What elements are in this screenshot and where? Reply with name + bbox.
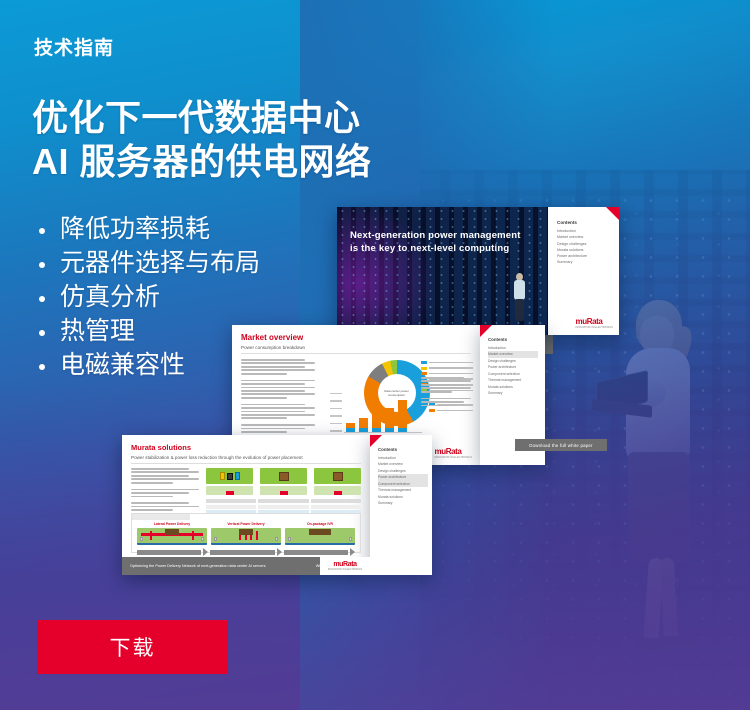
page-title-line-2: AI 服务器的供电网络: [32, 140, 372, 184]
feature-bullet-list: 降低功率损耗 元器件选择与布局 仿真分析 热管理 电磁兼容性: [34, 212, 260, 382]
murata-logo-text: muRata: [576, 317, 603, 326]
table-row: [206, 499, 361, 503]
murata-logo-text: muRata: [435, 447, 462, 456]
market-contents-panel: Contents Introduction Market overview De…: [480, 325, 545, 465]
cover-hero-image: [337, 207, 548, 335]
chip-top-view: [206, 468, 253, 484]
legend-item: [429, 409, 473, 412]
solutions-comparison-table: [206, 499, 361, 514]
document-thumb-cover[interactable]: Next-generation power management is the …: [337, 207, 619, 335]
contents-item: Summary: [488, 390, 538, 396]
solutions-contents-panel: Contents Introduction Market overview De…: [370, 435, 432, 575]
contents-heading: Contents: [557, 220, 613, 225]
market-contents-list: Contents Introduction Market overview De…: [488, 337, 538, 397]
murata-logo: muRata INNOVATOR IN ELECTRONICS: [320, 557, 370, 575]
chip-diagram-cell: [206, 468, 253, 495]
page-title: 优化下一代数据中心 AI 服务器的供电网络: [32, 96, 372, 184]
chip-side-view: [260, 486, 307, 495]
contents-heading: Contents: [488, 337, 538, 342]
stage-label: On-package IVR: [285, 522, 355, 526]
solutions-subtitle: Power stabilization & power loss reducti…: [131, 455, 361, 464]
murata-logo: muRata INNOVATOR IN ELECTRONICS: [435, 447, 472, 459]
murata-logo-text: muRata: [333, 561, 356, 568]
eyebrow-label: 技术指南: [34, 33, 114, 60]
chip-top-view: [314, 468, 361, 484]
legend-item: [421, 367, 473, 370]
contents-heading: Contents: [378, 447, 428, 452]
murata-logo-tagline: INNOVATOR IN ELECTRONICS: [328, 568, 363, 571]
red-corner-triangle-icon: [606, 207, 619, 220]
pcb-diagram: [211, 528, 281, 545]
murata-logo: muRata INNOVATOR IN ELECTRONICS: [576, 317, 613, 329]
cover-hero-person: [513, 273, 526, 321]
stage-block: On-package IVR: [285, 522, 355, 545]
cover-contents-panel: Contents Introduction Market overview De…: [548, 207, 619, 335]
promo-banner: Next-generation Data Centers Next-genera…: [0, 0, 750, 710]
chip-side-view: [206, 486, 253, 495]
murata-logo-tagline: INNOVATOR IN ELECTRONICS: [435, 456, 472, 459]
bullet-item: 电磁兼容性: [34, 348, 260, 382]
solutions-body-text: [131, 468, 199, 516]
stage-arrows: [132, 545, 360, 556]
legend-item: [421, 372, 473, 375]
document-thumb-murata-solutions[interactable]: Contents Introduction Market overview De…: [122, 435, 370, 575]
cover-headline: Next-generation power management is the …: [350, 229, 525, 256]
chip-top-view: [260, 468, 307, 484]
stage-block: Vertical Power Delivery: [211, 522, 281, 545]
bar-chart-y-labels: [330, 393, 342, 438]
page-title-line-1: 优化下一代数据中心: [32, 96, 372, 140]
contents-item: Summary: [378, 500, 428, 506]
table-row: [206, 505, 361, 509]
power-placement-panel: Lateral Power Delivery Vertical Power De…: [131, 513, 361, 553]
bar-group: [385, 408, 394, 432]
bar-chart-axis: [344, 432, 422, 433]
market-subtitle: Power consumption breakdown: [241, 345, 471, 354]
bar-group: [359, 418, 368, 432]
solutions-title: Murata solutions: [131, 443, 361, 452]
chip-diagram-cell: [260, 468, 307, 495]
red-corner-triangle-icon: [370, 435, 382, 447]
bullet-item: 仿真分析: [34, 280, 260, 314]
solutions-contents-list: Contents Introduction Market overview De…: [378, 447, 428, 507]
chip-side-view: [314, 486, 361, 495]
chip-diagram-cell: [314, 468, 361, 495]
solutions-page-body: Murata solutions Power stabilization & p…: [122, 435, 370, 575]
stage-label: Lateral Power Delivery: [137, 522, 207, 526]
bar-group: [372, 413, 381, 432]
donut-center-label: Data center power consumption: [380, 389, 414, 397]
footer-left-text: Optimizing the Power Delivery Network of…: [130, 564, 265, 568]
download-whitepaper-button[interactable]: Download the full white paper: [515, 439, 607, 451]
bar-chart: [330, 393, 422, 433]
solutions-diagram-row: [206, 468, 361, 516]
bullet-item: 降低功率损耗: [34, 212, 260, 246]
red-corner-triangle-icon: [480, 325, 492, 337]
murata-logo-tagline: INNOVATOR IN ELECTRONICS: [576, 326, 613, 329]
bar-group: [346, 423, 355, 432]
market-title: Market overview: [241, 333, 471, 342]
bar-group: [398, 400, 407, 432]
pcb-diagram: [285, 528, 355, 545]
contents-item: Summary: [557, 259, 613, 265]
market-right-text: [421, 377, 471, 408]
download-button[interactable]: 下载: [37, 620, 228, 674]
pcb-diagram: [137, 528, 207, 545]
stage-label: Vertical Power Delivery: [211, 522, 281, 526]
bullet-item: 元器件选择与布局: [34, 246, 260, 280]
legend-item: [421, 361, 473, 364]
bullet-item: 热管理: [34, 314, 260, 348]
panel-heading-bar: [132, 514, 190, 520]
cover-contents-list: Contents Introduction Market overview De…: [557, 220, 613, 266]
stage-block: Lateral Power Delivery: [137, 522, 207, 545]
